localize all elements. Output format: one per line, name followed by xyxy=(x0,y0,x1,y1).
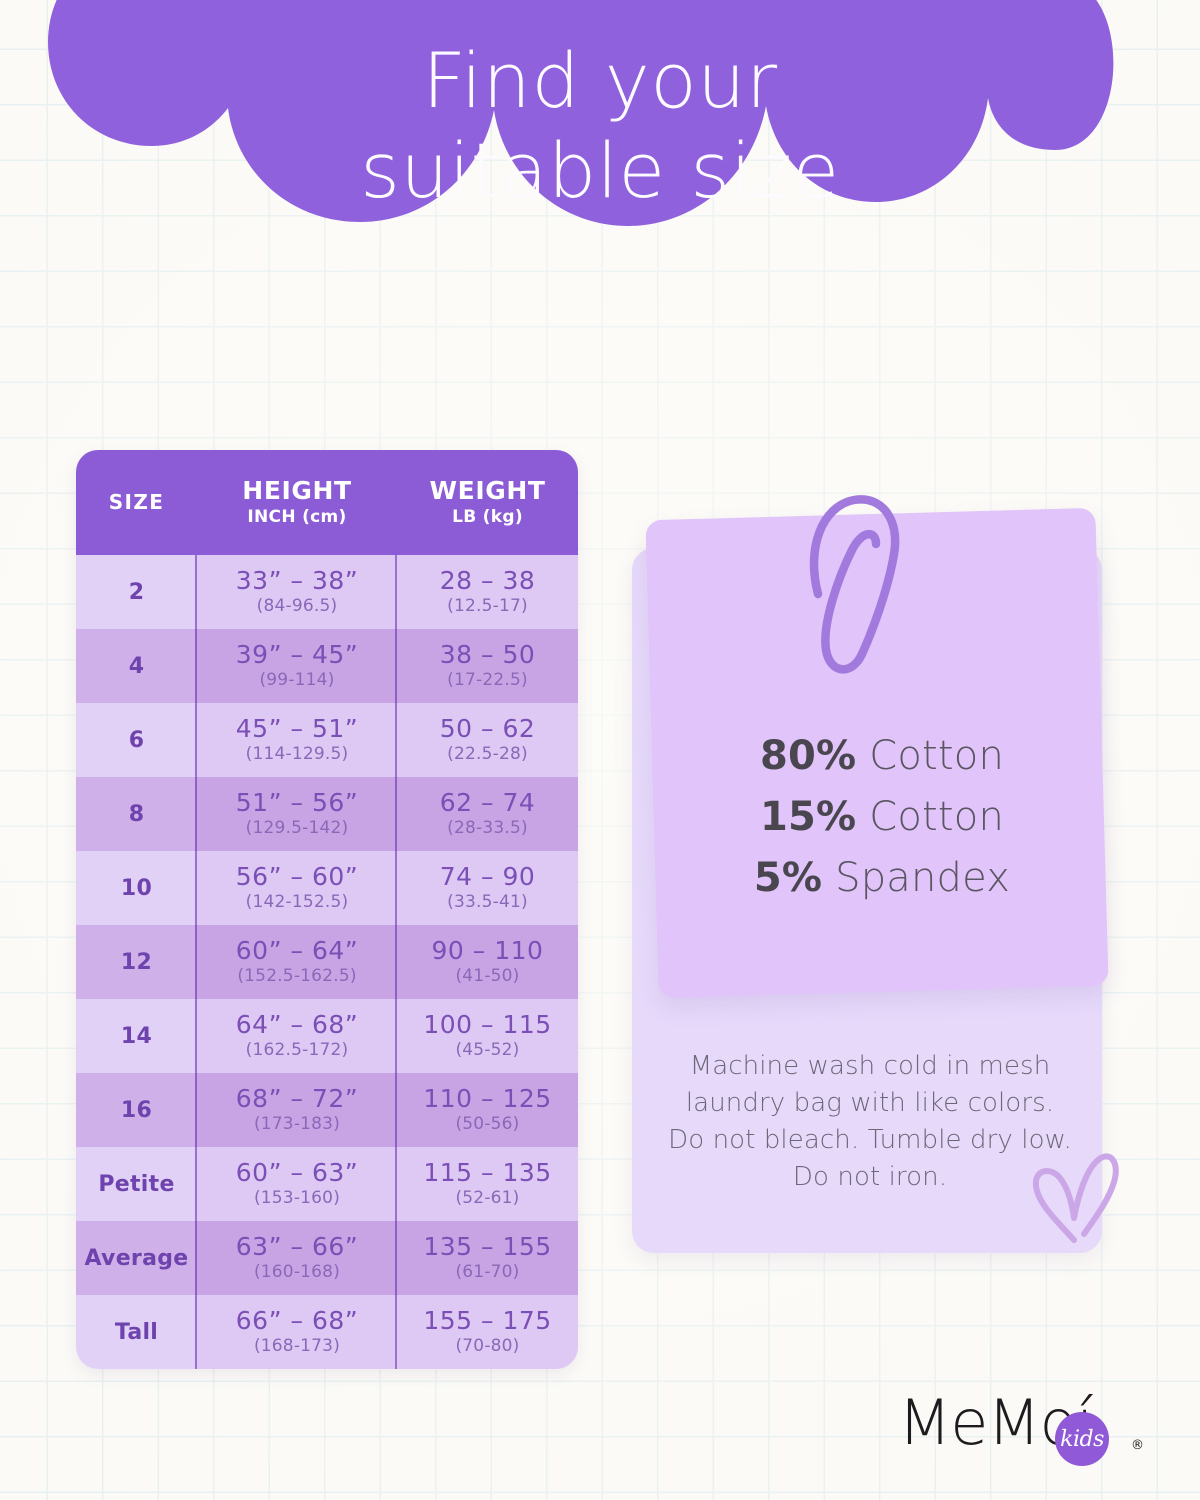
fabric-composition-list: 80% Cotton 15% Cotton 5% Spandex xyxy=(652,726,1112,910)
height-cm: (160-168) xyxy=(254,1261,340,1283)
cell-height: 56” – 60”(142-152.5) xyxy=(197,851,397,925)
cell-size: 10 xyxy=(76,851,197,925)
table-row: Average63” – 66”(160-168)135 – 155(61-70… xyxy=(76,1221,578,1295)
size-label: 4 xyxy=(129,654,145,679)
height-cm: (84-96.5) xyxy=(257,595,338,617)
cell-height: 51” – 56”(129.5-142) xyxy=(197,777,397,851)
column-header-height: HEIGHT INCH (cm) xyxy=(197,450,397,555)
cell-size: 12 xyxy=(76,925,197,999)
height-inches: 66” – 68” xyxy=(236,1307,358,1335)
size-label: Petite xyxy=(98,1172,174,1197)
table-row: 1464” – 68”(162.5-172)100 – 115(45-52) xyxy=(76,999,578,1073)
fabric-material-3: Spandex xyxy=(835,855,1010,901)
height-cm: (152.5-162.5) xyxy=(237,965,356,987)
weight-lb: 74 – 90 xyxy=(440,863,536,891)
fabric-line-2: 15% Cotton xyxy=(652,787,1112,848)
cell-height: 39” – 45”(99-114) xyxy=(197,629,397,703)
weight-kg: (33.5-41) xyxy=(447,891,528,913)
brand-logo: MeMoí kids ® xyxy=(898,1392,1148,1478)
height-inches: 45” – 51” xyxy=(236,715,358,743)
cell-weight: 100 – 115(45-52) xyxy=(397,999,578,1073)
table-header-row: SIZE HEIGHT INCH (cm) WEIGHT LB (kg) xyxy=(76,450,578,555)
size-label: 8 xyxy=(129,802,145,827)
weight-kg: (22.5-28) xyxy=(447,743,528,765)
weight-lb: 135 – 155 xyxy=(423,1233,551,1261)
fabric-pct-1: 80% xyxy=(760,733,856,779)
cell-size: Average xyxy=(76,1221,197,1295)
cell-size: 6 xyxy=(76,703,197,777)
weight-kg: (70-80) xyxy=(455,1335,519,1357)
cell-height: 64” – 68”(162.5-172) xyxy=(197,999,397,1073)
fabric-material-2: Cotton xyxy=(869,794,1004,840)
weight-lb: 115 – 135 xyxy=(423,1159,551,1187)
weight-kg: (17-22.5) xyxy=(447,669,528,691)
cell-weight: 155 – 175(70-80) xyxy=(397,1295,578,1369)
paperclip-icon xyxy=(796,482,916,682)
kids-badge-label: kids xyxy=(1060,1427,1104,1452)
size-label: Average xyxy=(85,1246,189,1271)
weight-kg: (41-50) xyxy=(455,965,519,987)
cell-height: 33” – 38”(84-96.5) xyxy=(197,555,397,629)
weight-lb: 62 – 74 xyxy=(440,789,536,817)
height-cm: (129.5-142) xyxy=(246,817,349,839)
weight-lb: 100 – 115 xyxy=(423,1011,551,1039)
care-line-1: Machine wash cold in mesh xyxy=(645,1048,1095,1085)
column-header-height-subtitle: INCH (cm) xyxy=(247,506,346,528)
size-label: 10 xyxy=(121,876,152,901)
weight-kg: (45-52) xyxy=(455,1039,519,1061)
table-row: 645” – 51”(114-129.5)50 – 62(22.5-28) xyxy=(76,703,578,777)
cell-weight: 28 – 38(12.5-17) xyxy=(397,555,578,629)
cell-size: Tall xyxy=(76,1295,197,1369)
column-header-height-title: HEIGHT xyxy=(242,477,351,506)
size-label: 14 xyxy=(121,1024,152,1049)
cell-height: 66” – 68”(168-173) xyxy=(197,1295,397,1369)
height-cm: (153-160) xyxy=(254,1187,340,1209)
height-inches: 39” – 45” xyxy=(236,641,358,669)
weight-kg: (50-56) xyxy=(455,1113,519,1135)
cell-height: 45” – 51”(114-129.5) xyxy=(197,703,397,777)
cell-size: Petite xyxy=(76,1147,197,1221)
weight-kg: (61-70) xyxy=(455,1261,519,1283)
table-row: Petite60” – 63”(153-160)115 – 135(52-61) xyxy=(76,1147,578,1221)
weight-lb: 28 – 38 xyxy=(440,567,536,595)
height-inches: 64” – 68” xyxy=(236,1011,358,1039)
height-cm: (162.5-172) xyxy=(246,1039,349,1061)
cell-weight: 135 – 155(61-70) xyxy=(397,1221,578,1295)
column-header-size: SIZE xyxy=(76,450,197,555)
fabric-pct-2: 15% xyxy=(760,794,856,840)
height-inches: 51” – 56” xyxy=(236,789,358,817)
cell-weight: 62 – 74(28-33.5) xyxy=(397,777,578,851)
size-label: Tall xyxy=(115,1320,158,1345)
cell-size: 4 xyxy=(76,629,197,703)
height-inches: 60” – 64” xyxy=(236,937,358,965)
weight-kg: (28-33.5) xyxy=(447,817,528,839)
size-label: 12 xyxy=(121,950,152,975)
table-row: 851” – 56”(129.5-142)62 – 74(28-33.5) xyxy=(76,777,578,851)
cell-height: 60” – 63”(153-160) xyxy=(197,1147,397,1221)
heart-icon xyxy=(1028,1148,1124,1248)
care-line-2: laundry bag with like colors. xyxy=(645,1085,1095,1122)
height-inches: 63” – 66” xyxy=(236,1233,358,1261)
title-line-1: Find your xyxy=(0,36,1200,126)
cell-weight: 38 – 50(17-22.5) xyxy=(397,629,578,703)
height-cm: (114-129.5) xyxy=(246,743,349,765)
fabric-line-1: 80% Cotton xyxy=(652,726,1112,787)
size-label: 16 xyxy=(121,1098,152,1123)
column-header-weight: WEIGHT LB (kg) xyxy=(397,450,578,555)
cell-height: 60” – 64”(152.5-162.5) xyxy=(197,925,397,999)
registered-trademark-symbol: ® xyxy=(1131,1438,1144,1453)
table-row: Tall66” – 68”(168-173)155 – 175(70-80) xyxy=(76,1295,578,1369)
height-inches: 56” – 60” xyxy=(236,863,358,891)
fabric-material-1: Cotton xyxy=(869,733,1004,779)
page-title: Find your suitable size xyxy=(0,36,1200,215)
table-row: 1260” – 64”(152.5-162.5)90 – 110(41-50) xyxy=(76,925,578,999)
cell-weight: 110 – 125(50-56) xyxy=(397,1073,578,1147)
height-inches: 68” – 72” xyxy=(236,1085,358,1113)
height-cm: (99-114) xyxy=(259,669,334,691)
size-label: 2 xyxy=(129,580,145,605)
weight-kg: (12.5-17) xyxy=(447,595,528,617)
height-inches: 33” – 38” xyxy=(236,567,358,595)
table-row: 1668” – 72”(173-183)110 – 125(50-56) xyxy=(76,1073,578,1147)
size-label: 6 xyxy=(129,728,145,753)
column-header-size-title: SIZE xyxy=(109,491,165,514)
table-row: 439” – 45”(99-114)38 – 50(17-22.5) xyxy=(76,629,578,703)
cell-weight: 50 – 62(22.5-28) xyxy=(397,703,578,777)
cell-weight: 90 – 110(41-50) xyxy=(397,925,578,999)
cell-height: 63” – 66”(160-168) xyxy=(197,1221,397,1295)
cell-size: 14 xyxy=(76,999,197,1073)
weight-lb: 155 – 175 xyxy=(423,1307,551,1335)
column-header-weight-title: WEIGHT xyxy=(429,477,545,506)
height-inches: 60” – 63” xyxy=(236,1159,358,1187)
weight-lb: 50 – 62 xyxy=(440,715,536,743)
size-chart-table: SIZE HEIGHT INCH (cm) WEIGHT LB (kg) 233… xyxy=(76,450,578,1369)
cell-size: 8 xyxy=(76,777,197,851)
fabric-pct-3: 5% xyxy=(754,855,822,901)
fabric-line-3: 5% Spandex xyxy=(652,848,1112,909)
cell-weight: 74 – 90(33.5-41) xyxy=(397,851,578,925)
weight-lb: 110 – 125 xyxy=(423,1085,551,1113)
weight-kg: (52-61) xyxy=(455,1187,519,1209)
cell-weight: 115 – 135(52-61) xyxy=(397,1147,578,1221)
height-cm: (168-173) xyxy=(254,1335,340,1357)
cell-size: 16 xyxy=(76,1073,197,1147)
column-header-weight-subtitle: LB (kg) xyxy=(452,506,523,528)
table-row: 1056” – 60”(142-152.5)74 – 90(33.5-41) xyxy=(76,851,578,925)
table-body: 233” – 38”(84-96.5)28 – 38(12.5-17)439” … xyxy=(76,555,578,1369)
title-line-2: suitable size xyxy=(0,126,1200,216)
table-row: 233” – 38”(84-96.5)28 – 38(12.5-17) xyxy=(76,555,578,629)
cell-height: 68” – 72”(173-183) xyxy=(197,1073,397,1147)
height-cm: (173-183) xyxy=(254,1113,340,1135)
height-cm: (142-152.5) xyxy=(246,891,349,913)
cell-size: 2 xyxy=(76,555,197,629)
weight-lb: 38 – 50 xyxy=(440,641,536,669)
weight-lb: 90 – 110 xyxy=(432,937,544,965)
kids-badge: kids xyxy=(1055,1412,1109,1466)
